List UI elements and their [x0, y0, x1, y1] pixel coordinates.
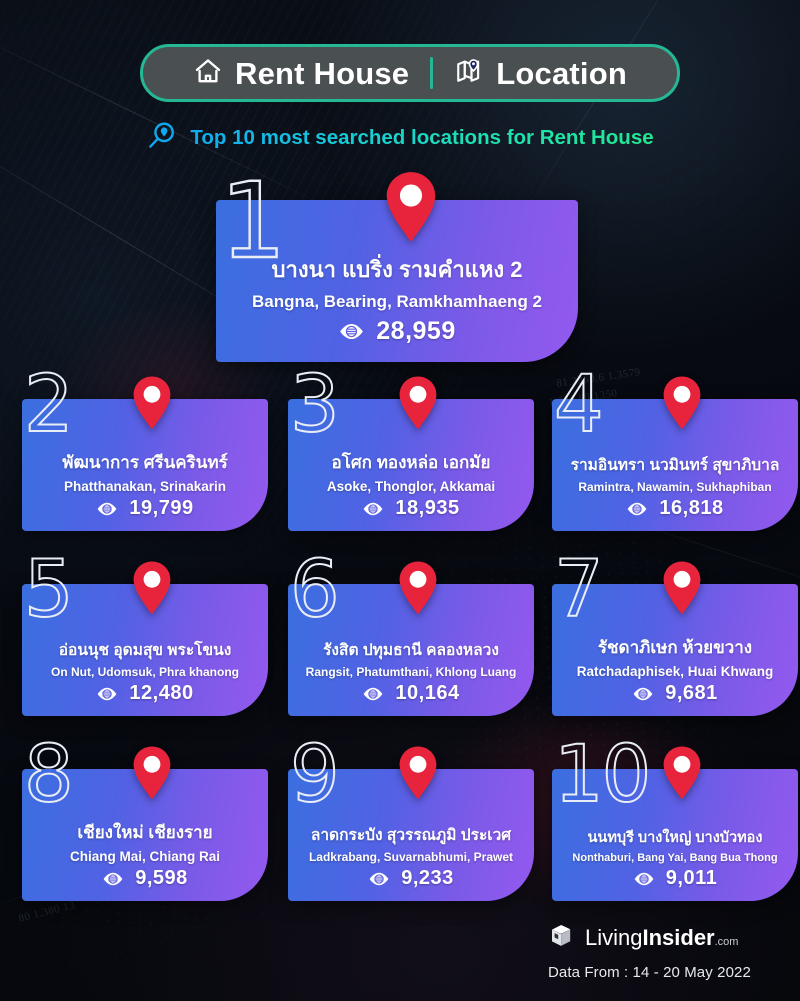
rank-number: 10 [554, 743, 649, 809]
view-count: 28,959 [376, 317, 455, 346]
location-name-thai: รังสิต ปทุมธานี คลองหลวง [323, 637, 499, 662]
eye-icon [368, 872, 390, 886]
eye-icon [96, 687, 118, 701]
view-count-row: 19,799 [96, 497, 193, 520]
ranking-card[interactable]: 1 บางนา แบริ่ง รามคำแหง 2 Bangna, Bearin… [216, 200, 578, 362]
view-count-row: 12,480 [96, 682, 193, 705]
ranking-card[interactable]: 4 รามอินทรา นวมินทร์ สุขาภิบาล Ramintra,… [552, 399, 798, 531]
eye-icon [633, 872, 655, 886]
rank-number: 6 [290, 558, 338, 624]
location-name-thai: รัชดาภิเษก ห้วยขวาง [598, 634, 752, 661]
location-name-english: Ladkrabang, Suvarnabhumi, Prawet [309, 850, 513, 864]
eye-icon [362, 502, 384, 516]
rank-number: 7 [554, 558, 602, 624]
location-name-english: Chiang Mai, Chiang Rai [70, 849, 220, 864]
brand-logo-text: LivingInsider.com [585, 927, 738, 949]
location-name-thai: เชียงใหม่ เชียงราย [77, 819, 212, 846]
eye-icon [102, 872, 124, 886]
map-pin-marker-icon [130, 560, 174, 616]
livinginsider-cube-logo-icon [548, 920, 576, 955]
data-date-range: Data From : 14 - 20 May 2022 [548, 964, 788, 981]
brand-domain: .com [715, 936, 739, 948]
location-name-english: Ratchadaphisek, Huai Khwang [577, 664, 774, 679]
rank-number: 2 [24, 373, 72, 439]
ranking-card[interactable]: 7 รัชดาภิเษก ห้วยขวาง Ratchadaphisek, Hu… [552, 584, 798, 716]
location-name-thai: อโศก ทองหล่อ เอกมัย [332, 449, 491, 476]
location-name-english: Nonthaburi, Bang Yai, Bang Bua Thong [572, 852, 777, 864]
map-pin-marker-icon [660, 560, 704, 616]
ranking-card[interactable]: 6 รังสิต ปทุมธานี คลองหลวง Rangsit, Phat… [288, 584, 534, 716]
eye-icon [362, 687, 384, 701]
map-pin-marker-icon [660, 375, 704, 431]
rank-number: 5 [24, 558, 72, 624]
view-count: 10,164 [395, 682, 459, 705]
ranking-card-grid: 1 บางนา แบริ่ง รามคำแหง 2 Bangna, Bearin… [0, 0, 800, 1001]
eye-icon [626, 502, 648, 516]
rank-number: 4 [554, 373, 602, 439]
eye-icon [338, 323, 365, 340]
view-count-row: 9,598 [102, 867, 188, 890]
ranking-card[interactable]: 10 นนทบุรี บางใหญ่ บางบัวทอง Nonthaburi,… [552, 769, 798, 901]
view-count-row: 28,959 [338, 317, 455, 346]
map-pin-marker-icon [660, 745, 704, 801]
view-count: 9,681 [665, 682, 718, 705]
view-count-row: 18,935 [362, 497, 459, 520]
location-name-english: On Nut, Udomsuk, Phra khanong [51, 665, 239, 679]
view-count: 12,480 [129, 682, 193, 705]
rank-number: 9 [290, 743, 338, 809]
map-pin-marker-icon [396, 745, 440, 801]
view-count-row: 16,818 [626, 497, 723, 520]
map-pin-marker-icon [396, 375, 440, 431]
location-name-thai: บางนา แบริ่ง รามคำแหง 2 [272, 252, 523, 287]
map-pin-marker-icon [130, 745, 174, 801]
map-pin-marker-icon [382, 170, 440, 244]
view-count-row: 10,164 [362, 682, 459, 705]
location-name-english: Ramintra, Nawamin, Sukhaphiban [578, 480, 771, 494]
ranking-card[interactable]: 2 พัฒนาการ ศรีนครินทร์ Phatthanakan, Sri… [22, 399, 268, 531]
brand-logo[interactable]: LivingInsider.com [548, 920, 788, 955]
map-pin-marker-icon [396, 560, 440, 616]
location-name-english: Asoke, Thonglor, Akkamai [327, 479, 495, 494]
view-count: 18,935 [395, 497, 459, 520]
ranking-card[interactable]: 8 เชียงใหม่ เชียงราย Chiang Mai, Chiang … [22, 769, 268, 901]
ranking-card[interactable]: 5 อ่อนนุช อุดมสุข พระโขนง On Nut, Udomsu… [22, 584, 268, 716]
location-name-english: Bangna, Bearing, Ramkhamhaeng 2 [252, 292, 542, 312]
location-name-thai: ลาดกระบัง สุวรรณภูมิ ประเวศ [311, 822, 511, 847]
view-count: 9,233 [401, 867, 454, 890]
view-count-row: 9,233 [368, 867, 454, 890]
rank-number: 8 [24, 743, 72, 809]
view-count-row: 9,011 [633, 867, 717, 890]
eye-icon [96, 502, 118, 516]
view-count: 9,011 [666, 867, 717, 890]
footer: LivingInsider.com Data From : 14 - 20 Ma… [548, 920, 788, 981]
brand-name-insider: Insider [642, 925, 714, 950]
ranking-card[interactable]: 9 ลาดกระบัง สุวรรณภูมิ ประเวศ Ladkrabang… [288, 769, 534, 901]
rank-number: 3 [290, 373, 338, 439]
ranking-card[interactable]: 3 อโศก ทองหล่อ เอกมัย Asoke, Thonglor, A… [288, 399, 534, 531]
location-name-english: Phatthanakan, Srinakarin [64, 479, 226, 494]
view-count: 9,598 [135, 867, 188, 890]
location-name-thai: รามอินทรา นวมินทร์ สุขาภิบาล [571, 452, 780, 477]
brand-name-living: Living [585, 925, 642, 950]
location-name-thai: นนทบุรี บางใหญ่ บางบัวทอง [588, 826, 763, 849]
view-count: 19,799 [129, 497, 193, 520]
eye-icon [632, 687, 654, 701]
view-count: 16,818 [659, 497, 723, 520]
location-name-thai: อ่อนนุช อุดมสุข พระโขนง [59, 637, 232, 662]
map-pin-marker-icon [130, 375, 174, 431]
view-count-row: 9,681 [632, 682, 718, 705]
location-name-thai: พัฒนาการ ศรีนครินทร์ [62, 449, 227, 476]
location-name-english: Rangsit, Phatumthani, Khlong Luang [306, 665, 517, 679]
